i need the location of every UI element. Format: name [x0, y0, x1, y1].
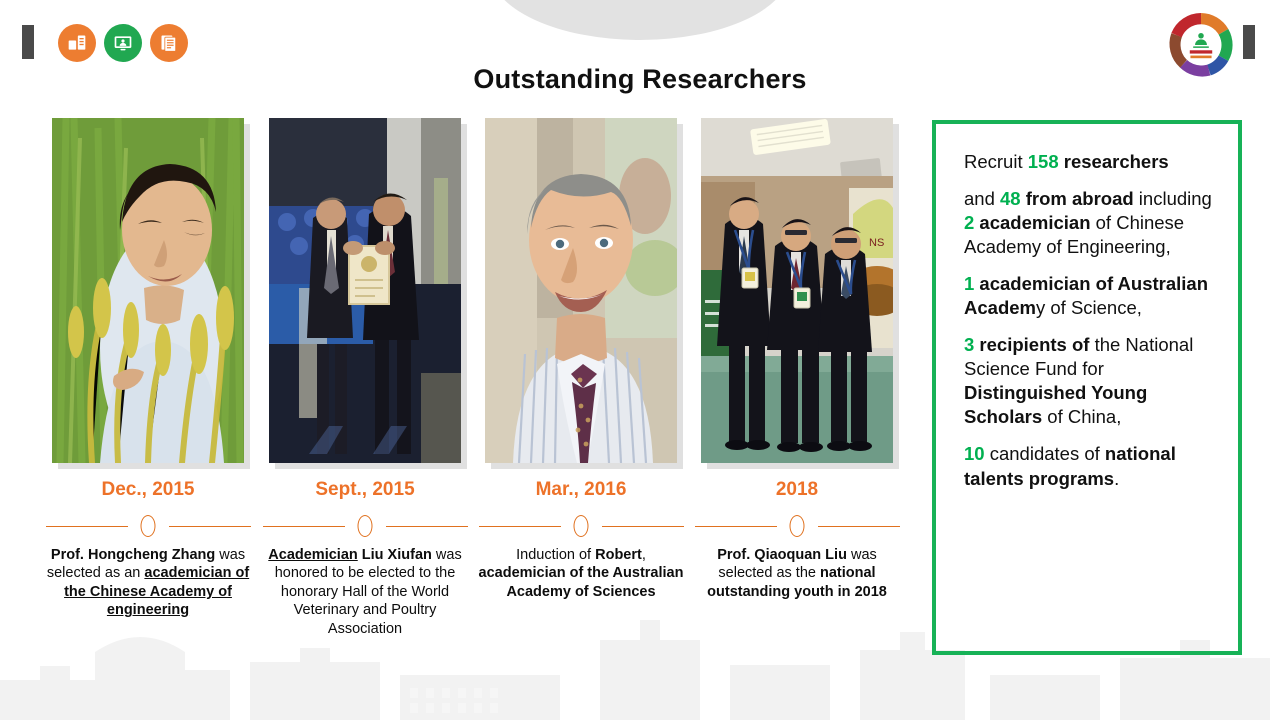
- info-paragraphs: Recruit 158 researchersand 48 from abroa…: [964, 150, 1222, 491]
- statistics-info-box: Recruit 158 researchersand 48 from abroa…: [932, 120, 1242, 655]
- timeline-divider-1: [46, 515, 251, 537]
- timeline-divider-2: [263, 515, 468, 537]
- timeline-divider-3: [479, 515, 684, 537]
- info-paragraph: and 48 from abroad including 2 academici…: [964, 187, 1222, 259]
- right-edge-bar: [1243, 25, 1255, 59]
- timeline-column-4: NS: [690, 118, 904, 638]
- timeline-caption-1: ​Prof. Hongcheng Zhang was selected as a…: [44, 546, 252, 620]
- divider-circle-icon: [790, 515, 805, 537]
- timeline-column-3: Mar., 2016 Induction of Robert, academic…: [474, 118, 688, 638]
- timeline-column-1: Dec., 2015 ​Prof. Hongcheng Zhang was se…: [40, 118, 256, 638]
- caption-runs-2: Academician Liu Xiufan was honored to be…: [268, 547, 461, 637]
- caption-runs-1: Prof. Hongcheng Zhang was selected as an…: [47, 547, 249, 618]
- caption-runs-3: Induction of Robert, academician of the …: [479, 547, 684, 600]
- info-paragraph: 3 recipients of the National Science Fun…: [964, 333, 1222, 429]
- photo-portrait-robert: [485, 118, 677, 463]
- timeline-columns: Dec., 2015 ​Prof. Hongcheng Zhang was se…: [40, 118, 920, 638]
- timeline-date-3: Mar., 2016: [536, 480, 627, 499]
- timeline-divider-4: [695, 515, 900, 537]
- info-paragraph: 1 academician of Australian Academy of S…: [964, 272, 1222, 320]
- documents-icon[interactable]: [150, 24, 188, 62]
- caption-runs-4: Prof. Qiaoquan Liu was selected as the n…: [707, 547, 887, 600]
- buildings-chart-icon[interactable]: [58, 24, 96, 62]
- timeline-caption-4: Prof. Qiaoquan Liu was selected as the n…: [693, 546, 901, 601]
- timeline-caption-3: Induction of Robert, academician of the …: [477, 546, 685, 601]
- info-paragraph: 10 candidates of national talents progra…: [964, 442, 1222, 490]
- photo-award-ceremony: [269, 118, 461, 463]
- divider-circle-icon: [574, 515, 589, 537]
- photo-three-men-exhibition: NS: [701, 118, 893, 463]
- timeline-column-2: Sept., 2015 Academician Liu Xiufan was h…: [258, 118, 472, 638]
- timeline-date-2: Sept., 2015: [315, 480, 414, 499]
- top-arc-decoration: [490, 0, 790, 40]
- timeline-date-4: 2018: [776, 480, 818, 499]
- info-paragraph: Recruit 158 researchers: [964, 150, 1222, 174]
- page-title: Outstanding Researchers: [0, 64, 1280, 95]
- left-edge-bar: [22, 25, 34, 59]
- timeline-date-1: Dec., 2015: [102, 480, 195, 499]
- header-icon-row: [58, 24, 188, 62]
- divider-circle-icon: [141, 515, 156, 537]
- timeline-caption-2: Academician Liu Xiufan was honored to be…: [261, 546, 469, 638]
- svg-text:NS: NS: [869, 237, 884, 249]
- monitor-person-icon[interactable]: [104, 24, 142, 62]
- divider-circle-icon: [358, 515, 373, 537]
- photo-researcher-rice-field: [52, 118, 244, 463]
